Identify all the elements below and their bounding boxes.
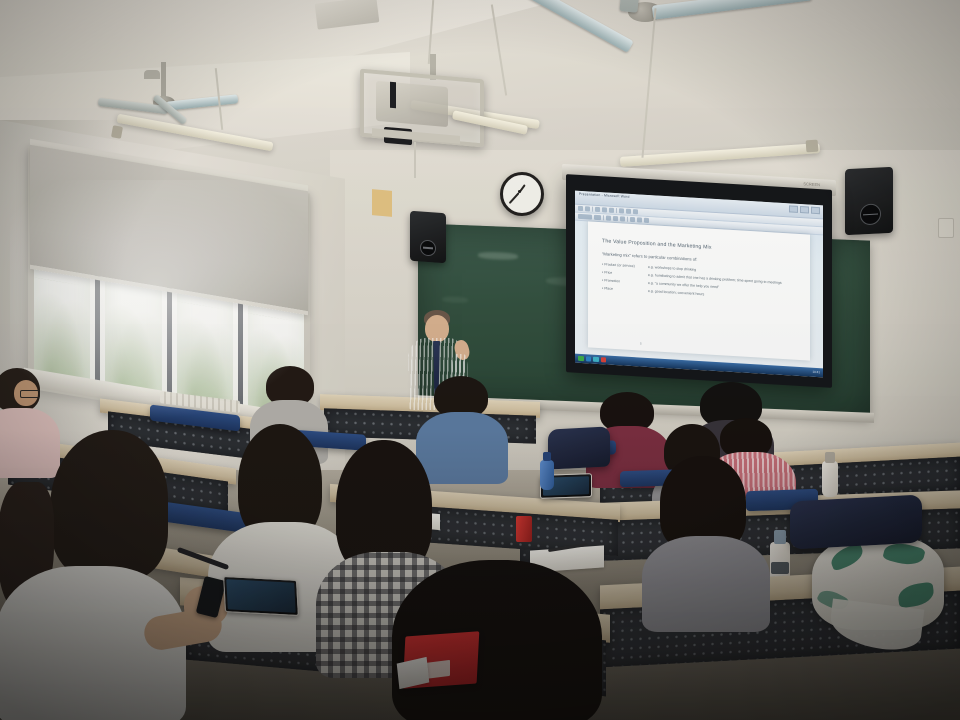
slide-page: The Value Proposition and the Marketing … (588, 221, 810, 360)
projection-screen: Presentation - Microsoft Word (566, 174, 832, 388)
eyeglasses-icon (20, 390, 40, 398)
align-left-icon[interactable] (630, 217, 635, 222)
slide-page-number: 5 (640, 341, 642, 345)
torso (0, 408, 60, 478)
align-center-icon[interactable] (637, 218, 642, 223)
close-icon[interactable] (811, 207, 820, 215)
zoom-icon[interactable] (626, 209, 631, 214)
table-icon[interactable] (619, 208, 624, 213)
underline-icon[interactable] (620, 217, 625, 222)
speaker-right (845, 167, 893, 236)
screen-case-label: SCREEN (803, 181, 820, 187)
torso (642, 536, 770, 632)
file-icon[interactable] (578, 206, 583, 211)
window-controls[interactable] (789, 205, 820, 214)
slide-row-key: • Price (602, 270, 648, 277)
bold-icon[interactable] (606, 216, 611, 221)
taskbar-tile[interactable] (593, 356, 599, 362)
toolbar-separator (627, 217, 628, 222)
italic-icon[interactable] (613, 216, 618, 221)
taskbar-clock[interactable]: 10:41 (812, 370, 820, 374)
print-icon[interactable] (595, 207, 600, 212)
classroom-photo: SCREEN Presentation - Microsoft Word (0, 0, 960, 720)
font-size-selector[interactable] (594, 215, 601, 220)
slide-row-key: • Product (or service) (602, 262, 648, 269)
minimize-icon[interactable] (789, 205, 798, 213)
font-family-selector[interactable] (578, 214, 592, 219)
speaker-left (410, 211, 446, 264)
maximize-icon[interactable] (800, 206, 809, 214)
backpack-front-right (790, 495, 922, 550)
toolbar-separator (616, 208, 617, 213)
save-icon[interactable] (585, 206, 590, 211)
app-title: Presentation - Microsoft Word (579, 192, 630, 199)
wall-socket (938, 218, 954, 238)
help-icon[interactable] (633, 209, 638, 214)
tube-cap (806, 140, 819, 153)
backpack-navy (548, 426, 610, 469)
projected-image: Presentation - Microsoft Word (575, 191, 823, 378)
torso (416, 412, 508, 484)
tablet-on-desk-front[interactable] (223, 576, 299, 616)
taskbar-tile[interactable] (578, 356, 584, 362)
slide-row-key: • Promotion (602, 278, 648, 285)
wall-notice (372, 189, 392, 217)
toolbar-separator (592, 207, 593, 212)
wall-clock (500, 172, 544, 216)
toolbar-separator (603, 215, 604, 220)
undo-icon[interactable] (602, 207, 607, 212)
red-can (516, 516, 532, 542)
taskbar-tile[interactable] (586, 356, 592, 362)
taskbar-tile[interactable] (601, 357, 607, 363)
redo-icon[interactable] (609, 208, 614, 213)
bullet-list-icon[interactable] (644, 218, 649, 223)
hair (50, 430, 168, 580)
slide-row-key: • Place (602, 287, 648, 294)
clock-minute-hand (509, 192, 520, 204)
